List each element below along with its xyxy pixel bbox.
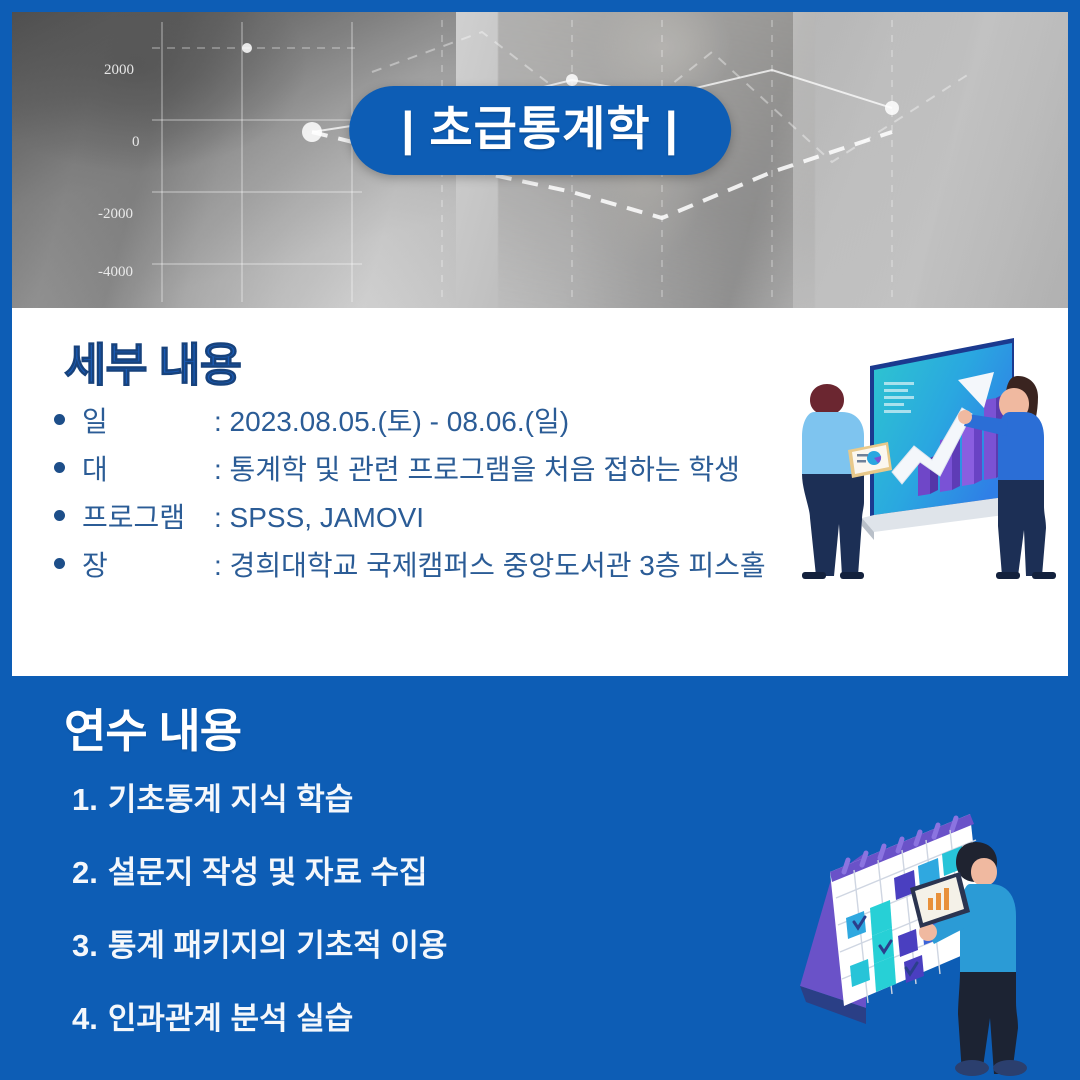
bullet-dot-icon [54, 510, 65, 521]
list-item: 대 : 통계학 및 관련 프로그램을 처음 접하는 학생 [54, 452, 1034, 487]
list-item: 프로그램 : SPSS, JAMOVI [54, 500, 1034, 535]
list-item: 4.인과관계 분석 실습 [72, 1003, 1034, 1034]
list-item: 3.통계 패키지의 기초적 이용 [72, 930, 1034, 961]
item-text: 통계 패키지의 기초적 이용 [108, 928, 448, 963]
details-heading: 세부 내용 [64, 342, 1034, 388]
list-item: 2.설문지 작성 및 자료 수집 [72, 857, 1034, 888]
detail-label-program: 프로그램 [82, 500, 214, 535]
detail-label-schedule: 일 [82, 404, 214, 439]
curriculum-heading: 연수 내용 [64, 708, 1034, 754]
item-number: 4. [72, 1001, 98, 1036]
detail-value-audience: : 통계학 및 관련 프로그램을 처음 접하는 학생 [214, 452, 740, 487]
list-item: 일 : 2023.08.05.(토) - 08.06.(일) [54, 404, 1034, 439]
page-title: | 초급통계학 | [401, 104, 679, 153]
item-number: 1. [72, 782, 98, 817]
details-section: 세부 내용 일 : 2023.08.05.(토) - 08.06.(일) 대 :… [12, 308, 1068, 676]
bullet-dot-icon [54, 462, 65, 473]
header-banner: 2000 0 -2000 -4000 | 초급통계학 | [12, 12, 1068, 308]
curriculum-list: 1.기초통계 지식 학습 2.설문지 작성 및 자료 수집 3.통계 패키지의 … [72, 784, 1034, 1034]
item-number: 2. [72, 855, 98, 890]
axis-tick-minus2000: -2000 [98, 206, 133, 222]
curriculum-section: 연수 내용 1.기초통계 지식 학습 2.설문지 작성 및 자료 수집 3.통계… [12, 676, 1068, 1080]
bullet-dot-icon [54, 414, 65, 425]
axis-tick-2000: 2000 [104, 62, 134, 78]
item-text: 인과관계 분석 실습 [108, 1001, 353, 1036]
title-badge: | 초급통계학 | [349, 86, 731, 175]
detail-value-venue: : 경희대학교 국제캠퍼스 중앙도서관 3층 피스홀 [214, 548, 766, 583]
list-item: 장 : 경희대학교 국제캠퍼스 중앙도서관 3층 피스홀 [54, 548, 1034, 583]
bullet-dot-icon [54, 558, 65, 569]
axis-tick-0: 0 [132, 134, 140, 150]
detail-value-schedule: : 2023.08.05.(토) - 08.06.(일) [214, 404, 569, 439]
detail-value-program: : SPSS, JAMOVI [214, 500, 424, 535]
detail-label-audience: 대 [82, 452, 214, 487]
item-text: 설문지 작성 및 자료 수집 [108, 855, 428, 890]
item-text: 기초통계 지식 학습 [108, 782, 353, 817]
item-number: 3. [72, 928, 98, 963]
detail-label-venue: 장 [82, 548, 214, 583]
poster-root: 2000 0 -2000 -4000 | 초급통계학 | 세부 내용 일 : 2… [0, 0, 1080, 1080]
details-list: 일 : 2023.08.05.(토) - 08.06.(일) 대 : 통계학 및… [54, 404, 1034, 583]
axis-tick-minus4000: -4000 [98, 264, 133, 280]
list-item: 1.기초통계 지식 학습 [72, 784, 1034, 815]
